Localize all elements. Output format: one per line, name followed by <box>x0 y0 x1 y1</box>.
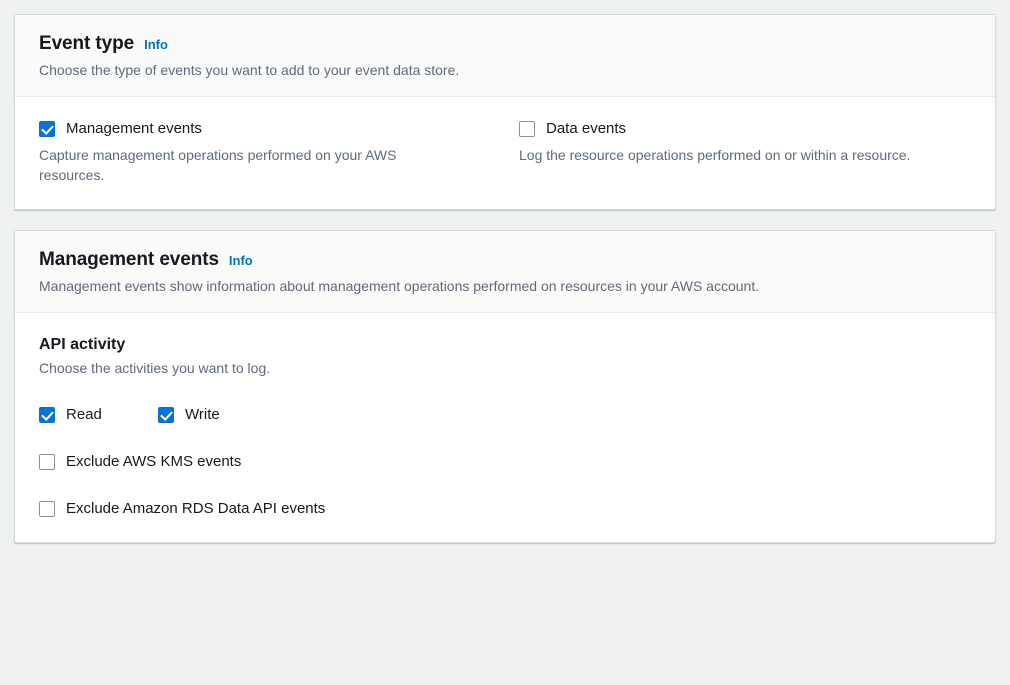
management-events-option: Management events Capture management ope… <box>39 119 519 185</box>
management-events-checkbox-row[interactable]: Management events <box>39 119 519 138</box>
event-type-panel-header: Event type Info Choose the type of event… <box>15 15 995 97</box>
management-events-option-description: Capture management operations performed … <box>39 145 459 185</box>
exclude-kms-checkbox[interactable] <box>39 454 55 470</box>
exclude-kms-option: Exclude AWS KMS events <box>39 452 971 471</box>
api-activity-options: Read Write <box>39 405 971 424</box>
management-events-title-row: Management events Info <box>39 249 971 271</box>
management-events-panel-description: Management events show information about… <box>39 276 971 296</box>
write-option: Write <box>158 405 220 424</box>
data-events-option: Data events Log the resource operations … <box>519 119 971 185</box>
data-events-checkbox-label[interactable]: Data events <box>546 119 626 138</box>
data-events-checkbox-row[interactable]: Data events <box>519 119 971 138</box>
read-checkbox-label[interactable]: Read <box>66 405 102 424</box>
event-type-options-grid: Management events Capture management ope… <box>39 119 971 185</box>
data-events-checkbox[interactable] <box>519 121 535 137</box>
event-data-store-config-page: Event type Info Choose the type of event… <box>0 0 1010 685</box>
management-events-panel-header: Management events Info Management events… <box>15 231 995 313</box>
event-type-info-link[interactable]: Info <box>144 37 168 52</box>
event-type-panel-description: Choose the type of events you want to ad… <box>39 60 971 80</box>
management-events-info-link[interactable]: Info <box>229 253 253 268</box>
event-type-panel-body: Management events Capture management ope… <box>15 97 995 209</box>
event-type-panel-title: Event type <box>39 33 134 55</box>
api-activity-description: Choose the activities you want to log. <box>39 358 971 378</box>
api-activity-title: API activity <box>39 335 971 355</box>
exclude-rds-data-api-checkbox-label[interactable]: Exclude Amazon RDS Data API events <box>66 499 325 518</box>
read-checkbox-row[interactable]: Read <box>39 405 158 424</box>
read-checkbox[interactable] <box>39 407 55 423</box>
exclude-rds-data-api-checkbox[interactable] <box>39 501 55 517</box>
data-events-option-description: Log the resource operations performed on… <box>519 145 939 165</box>
exclude-rds-data-api-checkbox-row[interactable]: Exclude Amazon RDS Data API events <box>39 499 971 518</box>
write-checkbox[interactable] <box>158 407 174 423</box>
event-type-panel: Event type Info Choose the type of event… <box>14 14 996 210</box>
management-events-panel-body: API activity Choose the activities you w… <box>15 313 995 542</box>
write-checkbox-row[interactable]: Write <box>158 405 220 424</box>
event-type-title-row: Event type Info <box>39 33 971 55</box>
exclude-kms-checkbox-label[interactable]: Exclude AWS KMS events <box>66 452 241 471</box>
management-events-checkbox-label[interactable]: Management events <box>66 119 202 138</box>
exclude-kms-checkbox-row[interactable]: Exclude AWS KMS events <box>39 452 971 471</box>
read-option: Read <box>39 405 158 424</box>
management-events-panel-title: Management events <box>39 249 219 271</box>
management-events-checkbox[interactable] <box>39 121 55 137</box>
write-checkbox-label[interactable]: Write <box>185 405 220 424</box>
management-events-panel: Management events Info Management events… <box>14 230 996 543</box>
exclude-rds-data-api-option: Exclude Amazon RDS Data API events <box>39 499 971 518</box>
